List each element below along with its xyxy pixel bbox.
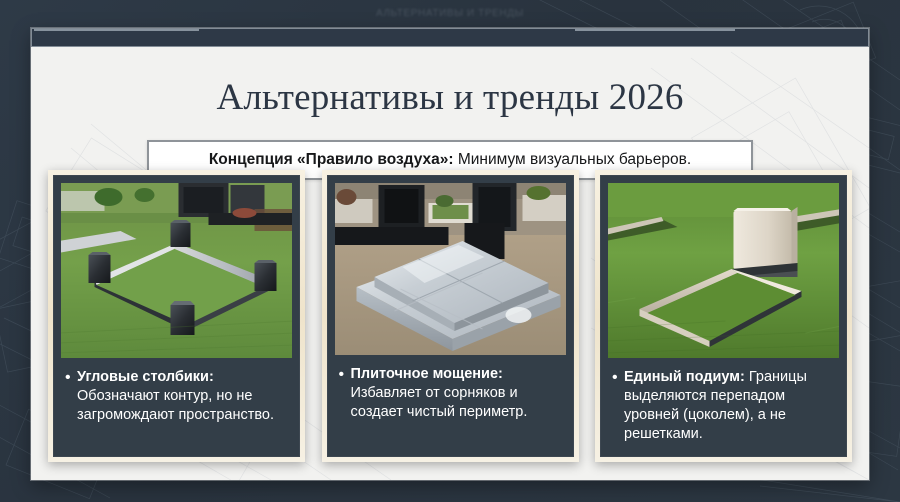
caption-body: Избавляет от сорняков и создает чистый п…	[351, 385, 528, 420]
card-caption: • Угловые столбики: Обозначают контур, н…	[61, 358, 292, 451]
page-title: Альтернативы и тренды 2026	[31, 76, 869, 120]
caption-lead: Угловые столбики:	[77, 369, 214, 385]
caption-body: Обозначают контур, но не загромождают пр…	[77, 388, 274, 423]
bullet-icon: •	[339, 365, 351, 451]
card-tile-paving: • Плиточное мощение: Избавляет от сорняк…	[322, 170, 579, 462]
header-rule-right	[575, 29, 735, 31]
card-inner: • Единый подиум: Границы выделяются пере…	[600, 175, 847, 457]
card-single-podium: • Единый подиум: Границы выделяются пере…	[595, 170, 852, 462]
card-corner-posts: • Угловые столбики: Обозначают контур, н…	[48, 170, 305, 462]
photo-tile-paving	[335, 183, 566, 355]
card-inner: • Угловые столбики: Обозначают контур, н…	[53, 175, 300, 457]
slide: Альтернативы и тренды 2026 Концепция «Пр…	[31, 28, 869, 480]
ghost-header-text: АЛЬТЕРНАТИВЫ И ТРЕНДЫ	[0, 8, 900, 24]
cards-row: • Угловые столбики: Обозначают контур, н…	[48, 170, 852, 462]
concept-banner-lead: Концепция «Правило воздуха»:	[209, 151, 454, 168]
caption-lead: Единый подиум:	[624, 369, 745, 385]
caption-text: Единый подиум: Границы выделяются перепа…	[624, 368, 837, 451]
photo-single-podium	[608, 183, 839, 358]
bullet-icon: •	[65, 368, 77, 451]
header-rule-left	[34, 29, 199, 31]
concept-banner-rest: Минимум визуальных барьеров.	[454, 151, 692, 168]
caption-lead: Плиточное мощение:	[351, 366, 503, 382]
card-inner: • Плиточное мощение: Избавляет от сорняк…	[327, 175, 574, 457]
card-caption: • Единый подиум: Границы выделяются пере…	[608, 358, 839, 451]
card-caption: • Плиточное мощение: Избавляет от сорняк…	[335, 355, 566, 451]
caption-text: Плиточное мощение: Избавляет от сорняков…	[351, 365, 564, 451]
bullet-icon: •	[612, 368, 624, 451]
caption-text: Угловые столбики: Обозначают контур, но …	[77, 368, 290, 451]
photo-corner-posts	[61, 183, 292, 358]
concept-banner-text: Концепция «Правило воздуха»: Минимум виз…	[209, 151, 691, 169]
